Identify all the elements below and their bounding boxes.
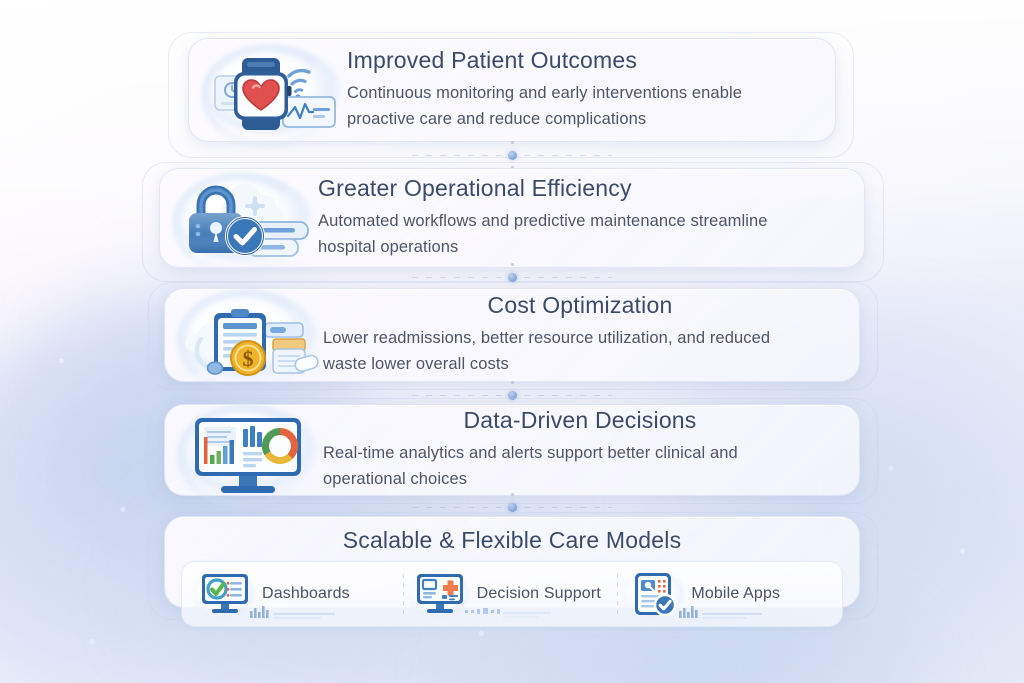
pyramid-stack: Improved Patient Outcomes Continuous mon… (0, 0, 1024, 683)
sparkline-decoration (463, 603, 555, 619)
tier-title: Data-Driven Decisions (323, 407, 837, 433)
monitor-analytics-dashboard-icon (177, 402, 319, 498)
tier-text-block: Data-Driven Decisions Real-time analytic… (319, 407, 845, 493)
sub-item-decision-support[interactable]: Decision Support (405, 568, 620, 620)
connector-3-4 (412, 388, 612, 402)
tier-title: Greater Operational Efficiency (318, 175, 842, 201)
sub-item-row: Dashboards (181, 561, 843, 627)
tier-cost-optimization[interactable]: $ Cost Optimization Lower readmissions, … (164, 288, 860, 382)
sub-item-label: Mobile Apps (691, 585, 780, 603)
tier-title: Improved Patient Outcomes (347, 47, 813, 73)
smartwatch-heart-monitor-icon (201, 42, 343, 138)
tier-text-block: Cost Optimization Lower readmissions, be… (319, 292, 845, 378)
tier-greater-operational-efficiency[interactable]: Greater Operational Efficiency Automated… (159, 168, 865, 268)
tier-text-block: Improved Patient Outcomes Continuous mon… (343, 47, 821, 133)
clipboard-dollar-coin-icon: $ (177, 287, 319, 383)
tier-title: Cost Optimization (323, 292, 837, 318)
tier-title: Scalable & Flexible Care Models (181, 527, 843, 553)
tier-description: Lower readmissions, better resource util… (323, 325, 813, 378)
sub-item-mobile-apps[interactable]: Mobile Apps (619, 568, 834, 620)
tier-description: Continuous monitoring and early interven… (347, 80, 813, 133)
tier-description: Automated workflows and predictive maint… (318, 208, 818, 261)
mobile-device-check-icon (625, 570, 683, 618)
connector-tick (511, 381, 514, 384)
tier-text-block: Greater Operational Efficiency Automated… (314, 175, 850, 261)
connector-tick (511, 493, 514, 496)
monitor-checkmark-icon (196, 570, 254, 618)
padlock-check-security-icon (172, 170, 314, 266)
sub-item-dashboards[interactable]: Dashboards (190, 568, 405, 620)
connector-2-3 (412, 270, 612, 284)
connector-tick (511, 141, 514, 144)
sparkline-decoration (677, 603, 769, 619)
connector-1-2 (412, 148, 612, 162)
connector-tick (511, 263, 514, 266)
connector-dot (508, 391, 517, 400)
connector-dot (508, 503, 517, 512)
connector-4-5 (412, 500, 612, 514)
tier-scalable-flexible-care-models[interactable]: Scalable & Flexible Care Models (164, 516, 860, 608)
tier-data-driven-decisions[interactable]: Data-Driven Decisions Real-time analytic… (164, 404, 860, 496)
sparkline-decoration (248, 603, 340, 619)
infographic-canvas: Improved Patient Outcomes Continuous mon… (0, 0, 1024, 683)
sub-item-label: Decision Support (477, 585, 601, 603)
tier-improved-patient-outcomes[interactable]: Improved Patient Outcomes Continuous mon… (188, 38, 836, 142)
sub-item-label: Dashboards (262, 585, 350, 603)
connector-dot (508, 273, 517, 282)
svg-text:$: $ (243, 346, 254, 371)
connector-dot (508, 151, 517, 160)
monitor-medical-cross-icon (411, 570, 469, 618)
tier-description: Real-time analytics and alerts support b… (323, 440, 823, 493)
